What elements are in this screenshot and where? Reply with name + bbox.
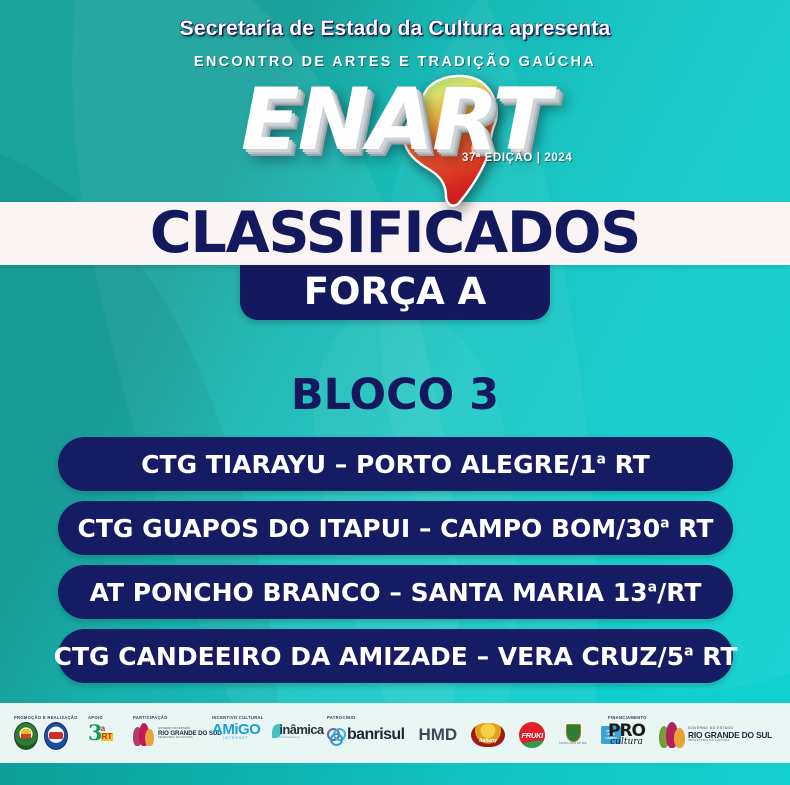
rs-government-logo-icon: GOVERNO DO ESTADO RIO GRANDE DO SUL SECR… [133, 722, 221, 746]
classificados-band: CLASSIFICADOS [0, 202, 790, 265]
banrisul-name: banrisul [347, 726, 404, 744]
event-kicker: ENCONTRO DE ARTES E TRADIÇÃO GAÚCHA [0, 54, 790, 70]
footer-base-strip [0, 763, 790, 785]
forca-badge-label: FORÇA A [304, 270, 487, 315]
footer-group-label: PARTICIPAÇÃO [133, 715, 221, 720]
footer-group-patrocinio: PATROCÍNIO banrisul HMD Italiany FRUKI S… [327, 715, 621, 748]
forca-badge: FORÇA A [240, 265, 550, 320]
santa-cruz-do-sul-logo-icon: SANTA CRUZ DO SUL [559, 724, 587, 745]
footer-group-financiamento: FINANCIAMENTO PRO cultura GOVERNO DO EST… [608, 715, 772, 748]
amigo-internet-logo-icon: AMiGO INTERNET [212, 722, 260, 740]
gov-line3: SECRETARIA DA CULTURA [688, 740, 772, 743]
sponsor-footer: PROMOÇÃO E REALIZAÇÃO APOIO 3 a RT PARTI… [0, 703, 790, 763]
classified-list: CTG TIARAYU – PORTO ALEGRE/1a RT CTG GUA… [58, 437, 733, 693]
amigo-sub: INTERNET [223, 737, 249, 740]
ctg-seal-icon [44, 722, 68, 750]
page-title: CLASSIFICADOS [0, 202, 790, 265]
enart-logo: ENART [0, 70, 790, 185]
pro-line2: cultura [610, 738, 643, 747]
mtg-seal-icon [14, 722, 38, 750]
italiany-logo-icon: Italiany [471, 723, 505, 747]
footer-group-label: PROMOÇÃO E REALIZAÇÃO [14, 715, 78, 720]
santa-cruz-label: SANTA CRUZ DO SUL [559, 743, 587, 745]
dinamica-logo-icon: inâmica distribuidora [272, 723, 323, 739]
edition-label: 37ª EDIÇÃO | 2024 [462, 152, 572, 164]
presenter-line: Secretaria de Estado da Cultura apresent… [0, 17, 790, 41]
banrisul-logo-icon: banrisul [327, 726, 404, 744]
dinamica-sub: distribuidora [279, 736, 323, 739]
footer-group-label: FINANCIAMENTO [608, 715, 772, 720]
list-item[interactable]: CTG CANDEEIRO DA AMIZADE – VERA CRUZ/5a … [58, 629, 733, 683]
footer-group-participacao: PARTICIPAÇÃO GOVERNO DO ESTADO RIO GRAND… [133, 715, 221, 746]
list-item-label: CTG TIARAYU – PORTO ALEGRE/1a RT [141, 450, 650, 479]
list-item[interactable]: CTG TIARAYU – PORTO ALEGRE/1a RT [58, 437, 733, 491]
footer-group-label: PATROCÍNIO [327, 715, 621, 720]
fruki-logo-icon: FRUKI [519, 722, 545, 748]
poster-header: Secretaria de Estado da Cultura apresent… [0, 0, 790, 200]
list-item-label: AT PONCHO BRANCO – SANTA MARIA 13a/RT [90, 578, 702, 607]
footer-group-promocao: PROMOÇÃO E REALIZAÇÃO [14, 715, 78, 750]
fruki-name: FRUKI [521, 731, 542, 740]
amigo-name: AMiGO [212, 722, 260, 737]
terceiro-r-logo-icon: 3 a RT [88, 722, 113, 743]
pro-cultura-logo-icon: PRO cultura [608, 723, 645, 747]
footer-group-label: INCENTIVO CULTURAL [212, 715, 324, 720]
hmd-logo-icon: HMD [418, 725, 457, 745]
footer-group-incentivo: INCENTIVO CULTURAL AMiGO INTERNET inâmic… [212, 715, 324, 740]
list-item[interactable]: CTG GUAPOS DO ITAPUI – CAMPO BOM/30a RT [58, 501, 733, 555]
footer-group-apoio: APOIO 3 a RT [88, 715, 113, 743]
italiany-name: Italiany [479, 738, 497, 744]
governo-rs-logo-icon: GOVERNO DO ESTADO RIO GRANDE DO SUL SECR… [659, 722, 772, 748]
list-item[interactable]: AT PONCHO BRANCO – SANTA MARIA 13a/RT [58, 565, 733, 619]
terceiro-r-rt: RT [101, 733, 114, 741]
list-item-label: CTG GUAPOS DO ITAPUI – CAMPO BOM/30a RT [78, 514, 714, 543]
poster: Secretaria de Estado da Cultura apresent… [0, 0, 790, 785]
enart-wordmark: ENART [0, 70, 790, 170]
list-item-label: CTG CANDEEIRO DA AMIZADE – VERA CRUZ/5a … [54, 642, 738, 671]
bloco-title: BLOCO 3 [0, 370, 790, 420]
